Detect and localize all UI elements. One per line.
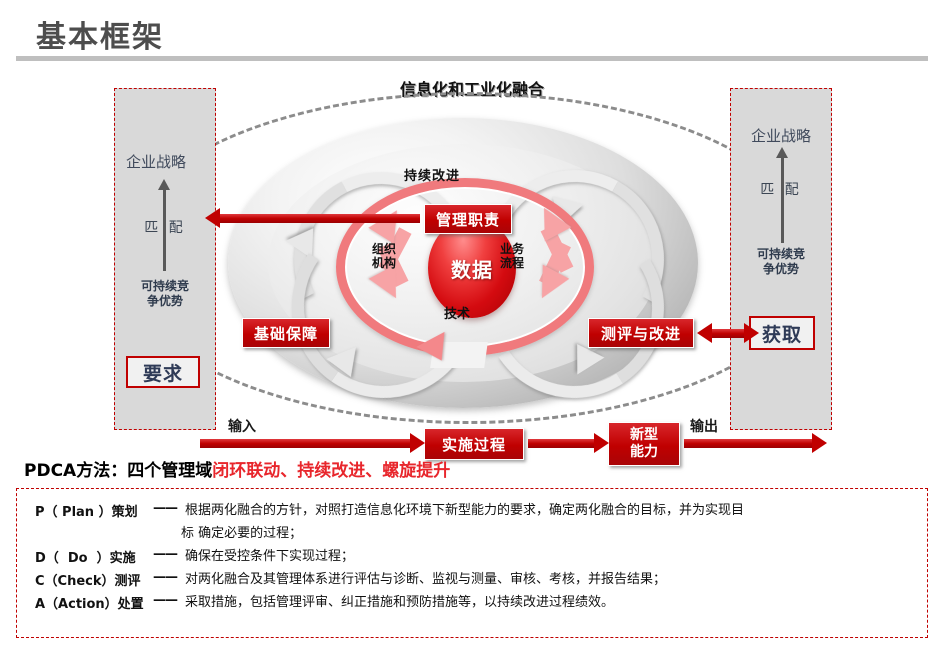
box-new-capability-line1: 新型 [630, 427, 658, 444]
panel-enterprise-strategy-right: 企业战略 匹 配 可持续竞 争优势 [730, 88, 832, 430]
label-technology: 技术 [444, 308, 470, 322]
label-organization-line1: 组织 [372, 242, 396, 256]
label-input: 输入 [228, 416, 256, 436]
panel-right-advantage-line1: 可持续竞 [731, 247, 831, 262]
panel-left-advantage-line2: 争优势 [115, 294, 215, 309]
pdca-do-key: D（ Do ）实施 [35, 547, 153, 566]
title-divider [16, 56, 928, 61]
framework-diagram: 信息化和工业化融合 数据 持续改进 组织 机构 业务 流程 技术 企业战略 匹 … [0, 66, 944, 446]
box-requirement[interactable]: 要求 [126, 356, 200, 388]
pdca-row-do: D（ Do ）实施 —— 确保在受控条件下实现过程； [35, 547, 909, 566]
label-output: 输出 [690, 416, 718, 436]
pdca-action-dash: —— [153, 593, 185, 608]
pdca-do-text: 确保在受控条件下实现过程； [185, 547, 909, 566]
panel-left-strategy-label: 企业战略 [97, 151, 215, 172]
pdca-check-key: C（Check）测评 [35, 570, 153, 589]
box-foundation-support[interactable]: 基础保障 [242, 318, 330, 348]
pdca-plan-text: 根据两化融合的方针，对照打造信息化环境下新型能力的要求，确定两化融合的目标，并为… [185, 501, 909, 520]
arrow-implementation-to-new-capability [528, 439, 594, 448]
label-organization: 组织 机构 [372, 242, 396, 270]
box-assessment-improvement[interactable]: 测评与改进 [588, 318, 694, 348]
pdca-plan-dash: —— [153, 501, 185, 516]
pdca-do-dash: —— [153, 547, 185, 562]
label-business-line2: 流程 [500, 256, 524, 270]
pdca-action-text: 采取措施，包括管理评审、纠正措施和预防措施等，以持续改进过程绩效。 [185, 593, 909, 612]
pdca-heading: PDCA方法：四个管理域闭环联动、持续改进、螺旋提升 [24, 456, 450, 481]
box-new-capability[interactable]: 新型 能力 [608, 422, 680, 466]
box-management-responsibility[interactable]: 管理职责 [424, 204, 512, 234]
page-title: 基本框架 [36, 12, 164, 56]
pdca-row-check: C（Check）测评 —— 对两化融合及其管理体系进行评估与诊断、监视与测量、审… [35, 570, 909, 589]
pdca-heading-red: 闭环联动、持续改进、螺旋提升 [212, 461, 450, 481]
arrow-new-capability-output [684, 439, 812, 448]
data-core-label: 数据 [451, 254, 493, 283]
panel-right-advantage-line2: 争优势 [731, 262, 831, 277]
panel-right-strategy-label: 企业战略 [731, 125, 831, 146]
pdca-action-key: A（Action）处置 [35, 593, 153, 612]
panel-right-advantage-label: 可持续竞 争优势 [731, 247, 831, 277]
pdca-check-text: 对两化融合及其管理体系进行评估与诊断、监视与测量、审核、考核，并报告结果； [185, 570, 909, 589]
pdca-plan-key: P（ Plan ）策划 [35, 501, 153, 520]
panel-left-advantage-label: 可持续竞 争优势 [115, 279, 215, 309]
label-continuous-improvement: 持续改进 [404, 170, 460, 184]
label-business-line1: 业务 [500, 242, 524, 256]
panel-right-match-arrow-icon [781, 157, 784, 243]
panel-right-match-label: 匹 配 [731, 179, 831, 199]
panel-left-match-label: 匹 配 [115, 217, 215, 237]
box-new-capability-line2: 能力 [630, 444, 658, 461]
arrow-requirement-to-implementation [200, 439, 410, 448]
pdca-row-plan: P（ Plan ）策划 —— 根据两化融合的方针，对照打造信息化环境下新型能力的… [35, 501, 909, 520]
pdca-plan-continuation: 标 确定必要的过程； [35, 522, 909, 541]
pdca-description-box: P（ Plan ）策划 —— 根据两化融合的方针，对照打造信息化环境下新型能力的… [16, 488, 928, 638]
panel-left-advantage-line1: 可持续竞 [115, 279, 215, 294]
label-business-process: 业务 流程 [500, 242, 524, 270]
pdca-check-dash: —— [153, 570, 185, 585]
label-organization-line2: 机构 [372, 256, 396, 270]
arrow-assessment-to-acquire [712, 329, 744, 338]
pdca-row-action: A（Action）处置 —— 采取措施，包括管理评审、纠正措施和预防措施等，以持… [35, 593, 909, 612]
arrow-management-to-strategy [220, 214, 420, 223]
pdca-heading-black: PDCA方法：四个管理域 [24, 461, 212, 481]
